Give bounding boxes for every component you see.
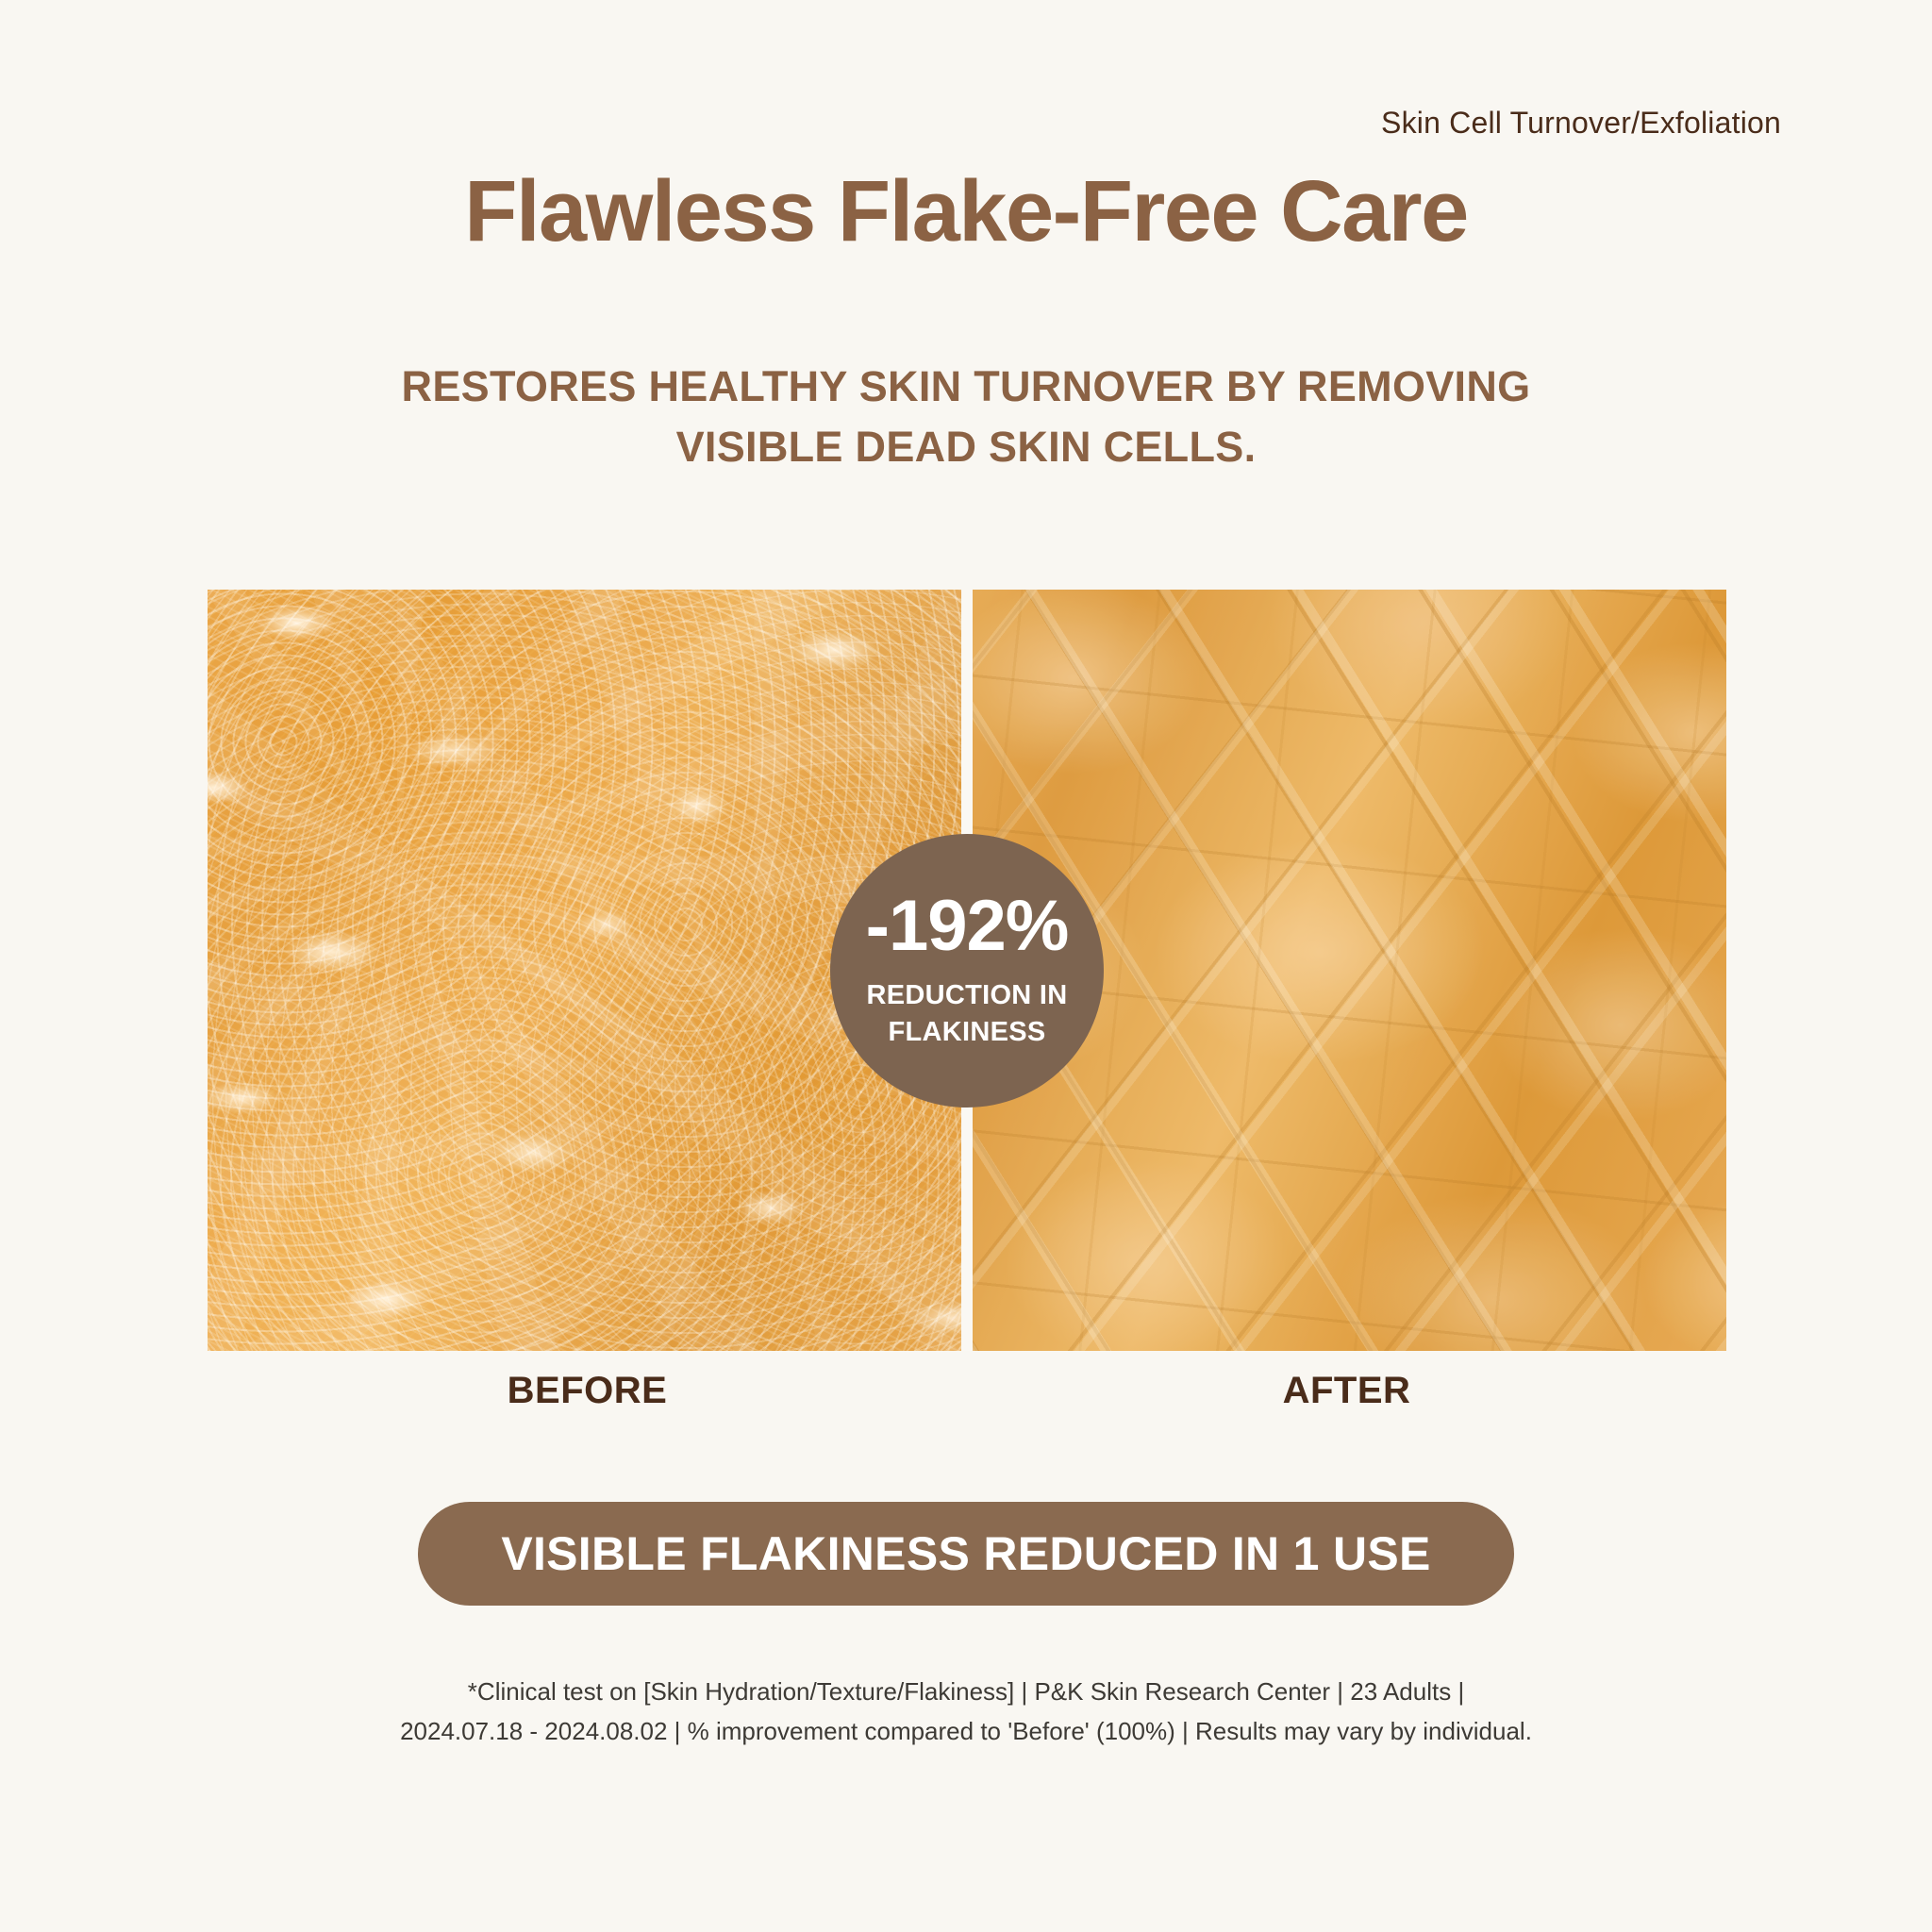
badge-caption-line-2: FLAKINESS: [866, 1014, 1067, 1050]
before-after-labels: BEFORE AFTER: [208, 1370, 1726, 1426]
marketing-graphic: Skin Cell Turnover/Exfoliation Flawless …: [0, 0, 1932, 1932]
subtitle-line-1: RESTORES HEALTHY SKIN TURNOVER BY REMOVI…: [0, 357, 1932, 417]
badge-caption: REDUCTION IN FLAKINESS: [866, 977, 1067, 1050]
page-title: Flawless Flake-Free Care: [0, 166, 1932, 258]
footnote-line-2: 2024.07.18 - 2024.08.02 | % improvement …: [0, 1711, 1932, 1751]
badge-value: -192%: [866, 891, 1069, 962]
before-label: BEFORE: [208, 1370, 967, 1426]
footnote-line-1: *Clinical test on [Skin Hydration/Textur…: [0, 1672, 1932, 1711]
category-eyebrow: Skin Cell Turnover/Exfoliation: [1381, 106, 1781, 141]
clinical-footnote: *Clinical test on [Skin Hydration/Textur…: [0, 1672, 1932, 1751]
subtitle: RESTORES HEALTHY SKIN TURNOVER BY REMOVI…: [0, 357, 1932, 477]
before-after-comparison: -192% REDUCTION IN FLAKINESS: [208, 590, 1726, 1351]
result-badge: -192% REDUCTION IN FLAKINESS: [830, 834, 1104, 1108]
badge-caption-line-1: REDUCTION IN: [866, 977, 1067, 1013]
claim-banner: VISIBLE FLAKINESS REDUCED IN 1 USE: [418, 1502, 1514, 1606]
subtitle-line-2: VISIBLE DEAD SKIN CELLS.: [0, 417, 1932, 477]
after-label: AFTER: [967, 1370, 1726, 1426]
